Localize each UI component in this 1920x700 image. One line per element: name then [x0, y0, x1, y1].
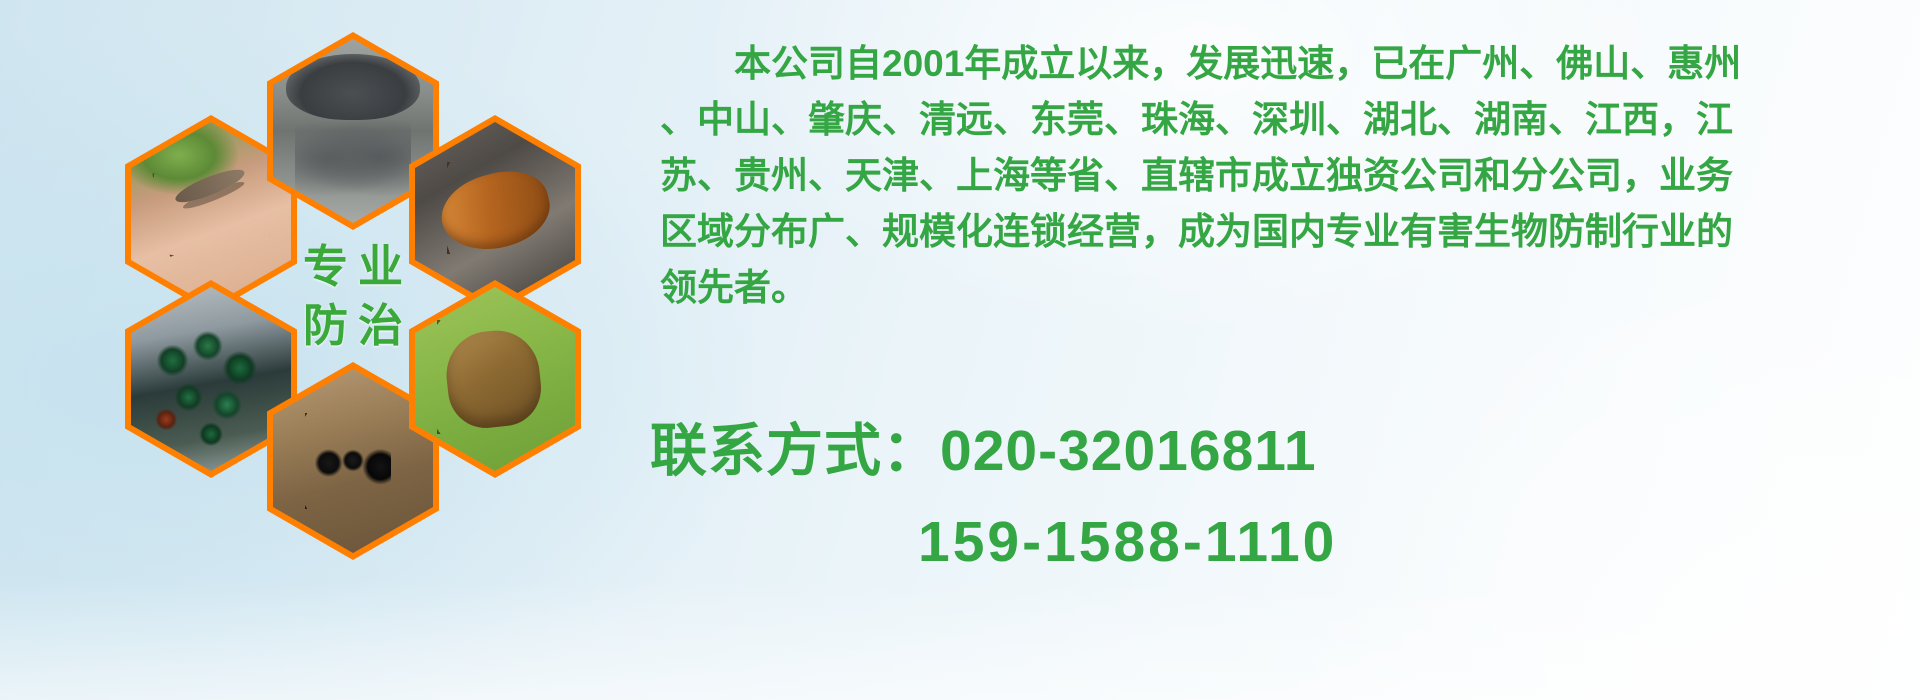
intro-line-1: 本公司自2001年成立以来，发展迅速，已在广州、佛山、惠州: [660, 36, 1905, 92]
banner-content: 本公司自2001年成立以来，发展迅速，已在广州、佛山、惠州 、中山、肇庆、清远、…: [640, 0, 1910, 700]
mosquito-body-shape: [172, 164, 247, 209]
intro-line-3: 苏、贵州、天津、上海等省、直辖市成立独资公司和分公司，业务: [660, 148, 1905, 204]
center-title-line-1: 专业: [293, 244, 413, 289]
intro-line-4: 区域分布广、规模化连锁经营，成为国内专业有害生物防制行业的: [660, 204, 1905, 260]
contact-phone-mobile[interactable]: 159-1588-1110: [640, 509, 1910, 575]
honeycomb-center-title: 专业 防治: [267, 197, 439, 395]
contact-phone-landline[interactable]: 联系方式：020-32016811: [640, 405, 1910, 487]
contact-block: 联系方式：020-32016811 159-1588-1110: [640, 405, 1910, 575]
honeycomb-image-cluster: 专业 防治: [95, 10, 615, 580]
hex-cell-cockroach-frame: [415, 122, 575, 306]
stink-bug-photo: [415, 287, 575, 471]
company-intro-paragraph: 本公司自2001年成立以来，发展迅速，已在广州、佛山、惠州 、中山、肇庆、清远、…: [660, 36, 1905, 316]
intro-line-5: 领先者。: [660, 260, 1905, 316]
center-title-line-2: 防治: [293, 303, 413, 348]
hex-cell-stink-bug-frame: [415, 287, 575, 471]
cockroach-photo: [415, 122, 575, 306]
intro-line-2: 、中山、肇庆、清远、东莞、珠海、深圳、湖北、湖南、江西，江: [660, 92, 1905, 148]
promo-banner: 专业 防治 本公司自2001年成立以来，发展迅速，已在广州、佛山、惠州 、中山、…: [0, 0, 1920, 700]
